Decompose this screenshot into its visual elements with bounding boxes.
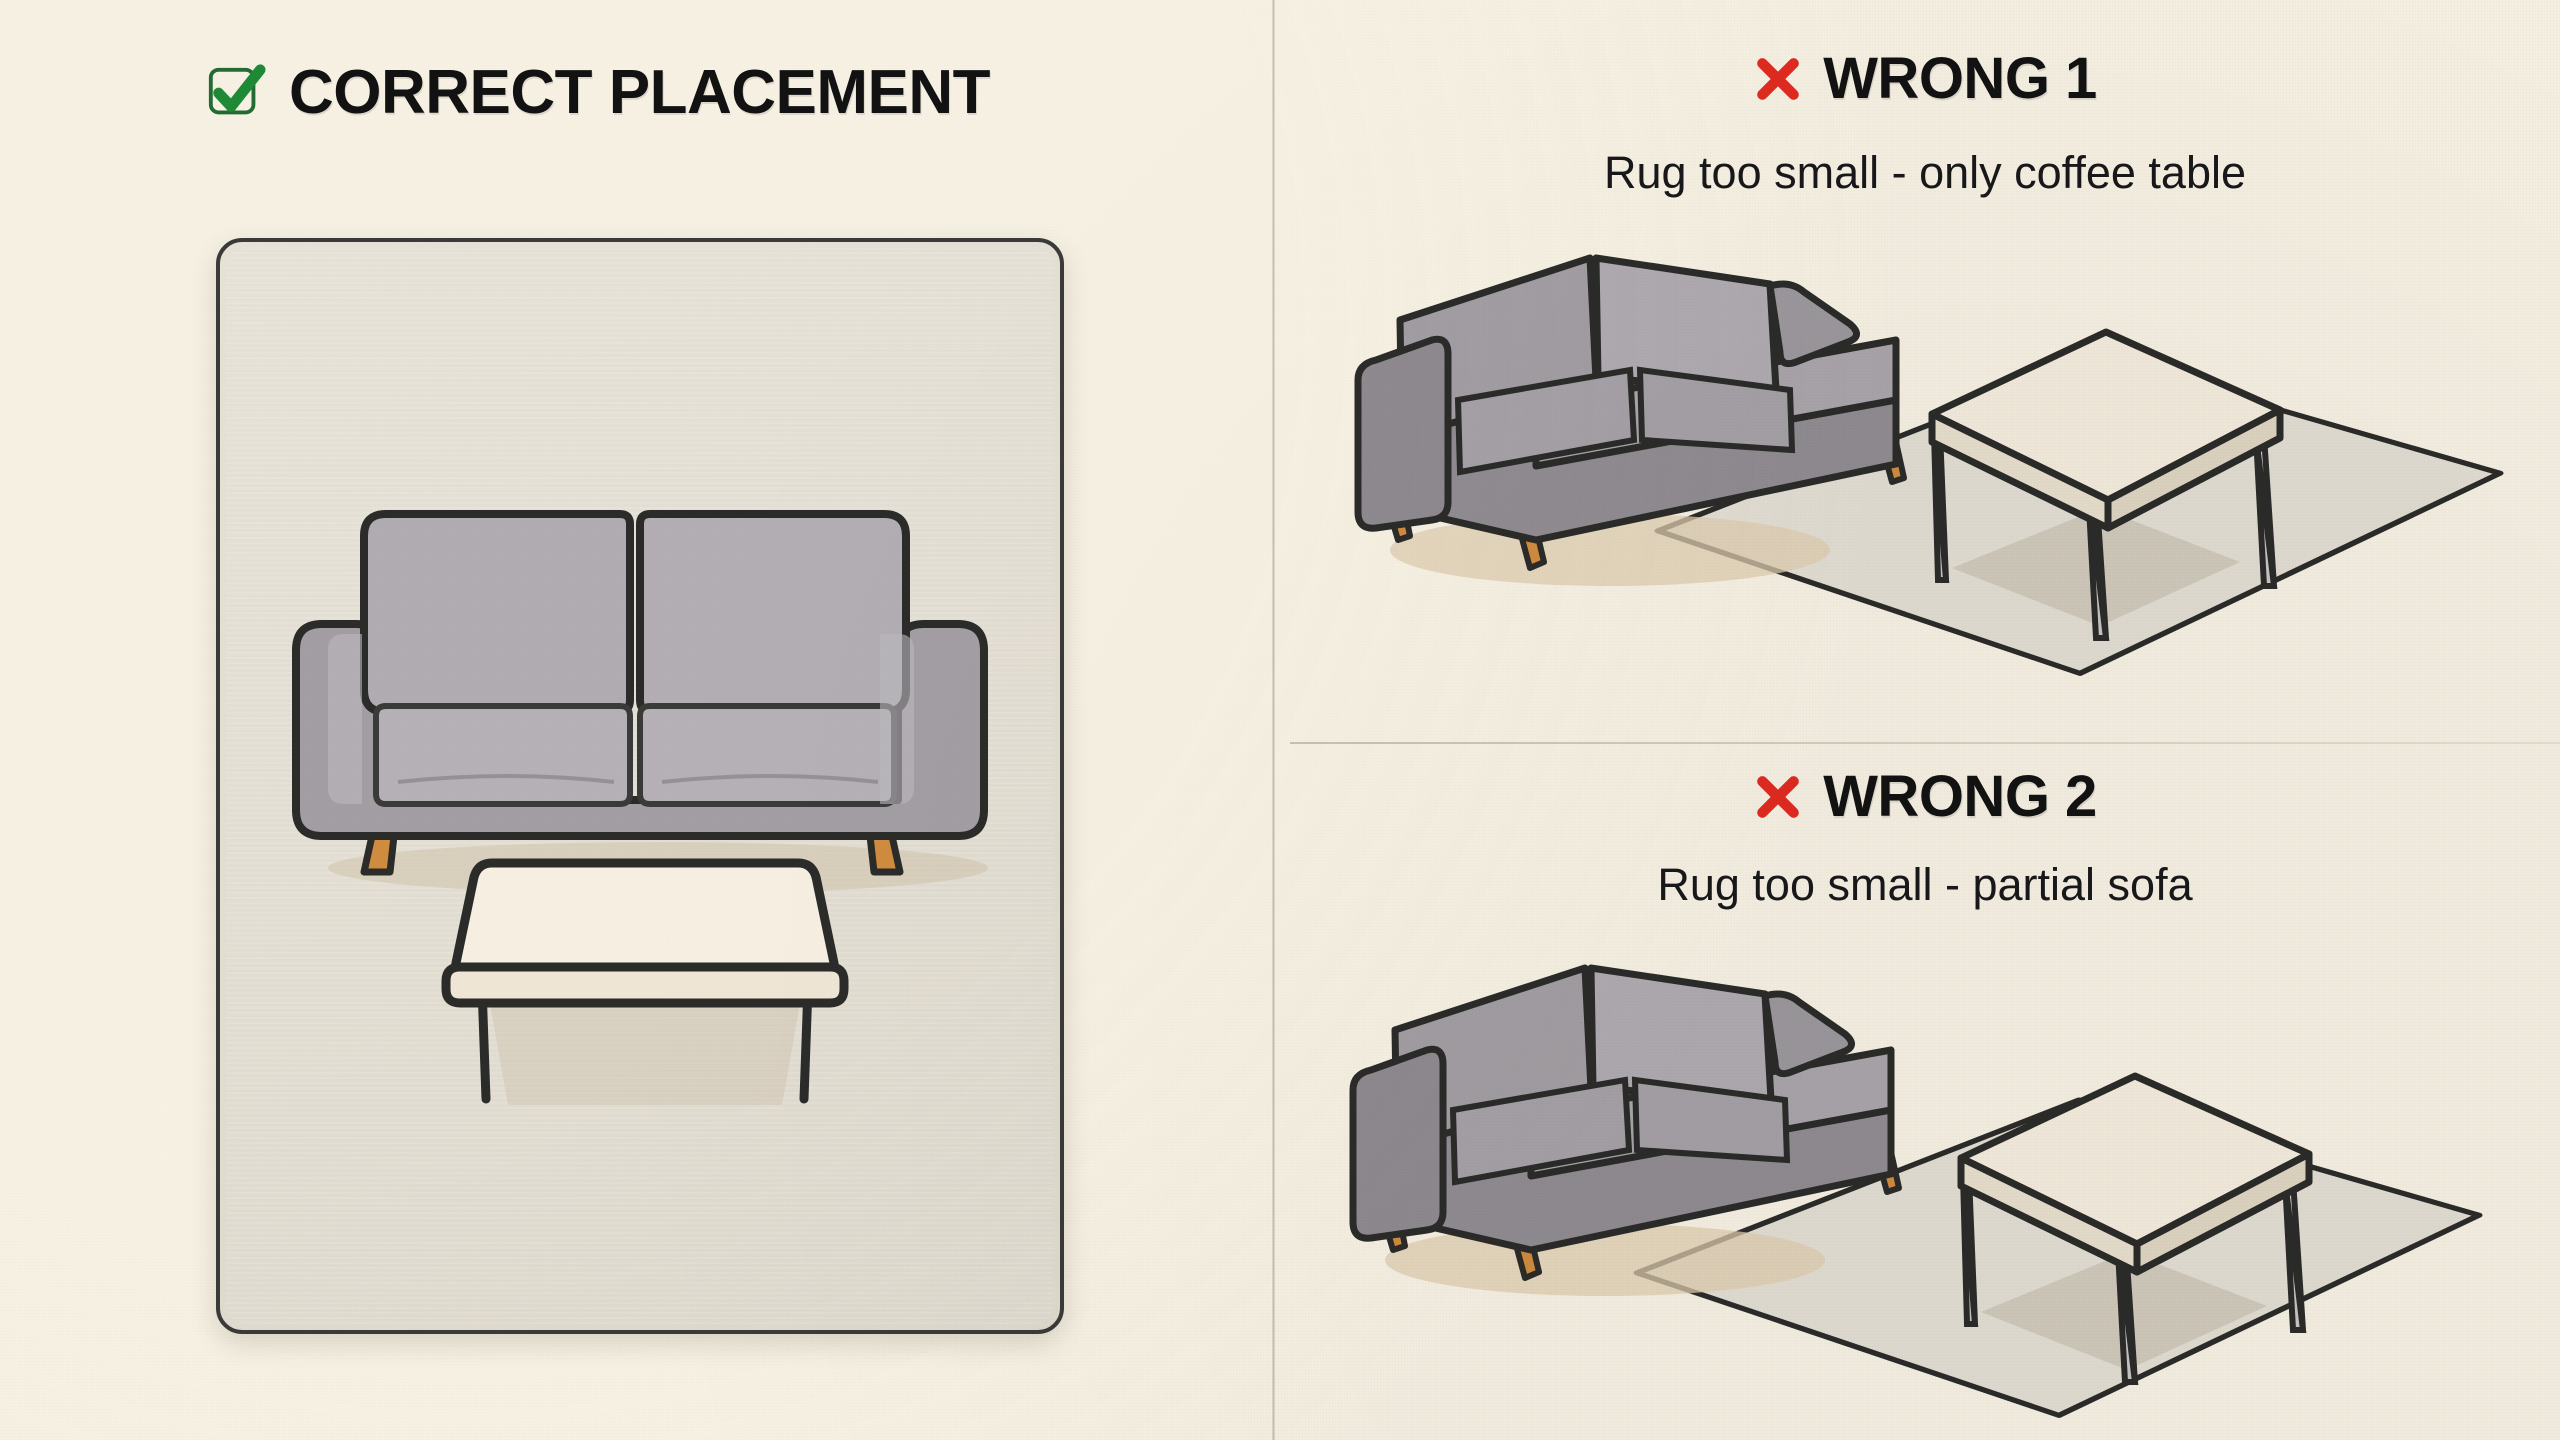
wrong-2-heading: WRONG 2 xyxy=(1290,768,2560,826)
cross-icon xyxy=(1753,772,1803,822)
cross-icon xyxy=(1753,54,1803,104)
infographic-canvas: CORRECT PLACEMENT xyxy=(0,0,2560,1440)
wrong-1-scene xyxy=(1340,250,2560,730)
wrong-2-title: WRONG 2 xyxy=(1823,768,2097,826)
wrong-1-subtitle: Rug too small - only coffee table xyxy=(1290,150,2560,195)
panel-divider-horizontal xyxy=(1290,742,2560,744)
front-view-sofa xyxy=(268,500,1008,900)
wrong-1-heading: WRONG 1 xyxy=(1290,50,2560,108)
front-view-coffee-table xyxy=(430,855,860,1125)
check-box-icon xyxy=(205,62,267,124)
panel-divider-vertical xyxy=(1272,0,1275,1440)
wrong-2-subtitle: Rug too small - partial sofa xyxy=(1290,862,2560,907)
correct-placement-heading: CORRECT PLACEMENT xyxy=(205,62,990,124)
wrong-1-title: WRONG 1 xyxy=(1823,50,2097,108)
wrong-2-scene xyxy=(1330,960,2560,1440)
page-title: CORRECT PLACEMENT xyxy=(289,62,990,124)
